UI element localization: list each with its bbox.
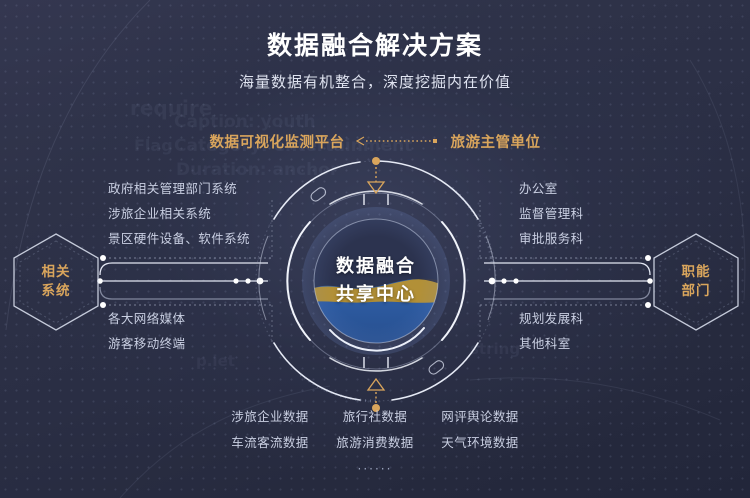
list-item[interactable]: 办公室 <box>519 176 584 201</box>
list-item[interactable]: 天气环境数据 <box>428 430 533 456</box>
infographic-canvas: require Caption: youth Category: enterta… <box>0 0 750 498</box>
bottom-data-row-1: 涉旅企业数据 旅行社数据 网评舆论数据 <box>218 404 533 430</box>
hexagon-right-functional-departments[interactable]: 职能 部门 <box>654 234 738 330</box>
center-label-line2: 共享中心 <box>336 281 416 309</box>
right-top-item-list: 办公室 监督管理科 审批服务科 <box>519 176 584 251</box>
list-item[interactable]: 车流客流数据 <box>218 430 323 456</box>
bottom-data-grid: 涉旅企业数据 旅行社数据 网评舆论数据 车流客流数据 旅游消费数据 天气环境数据… <box>0 404 750 476</box>
hexagon-left-line2: 系统 <box>42 282 71 301</box>
list-item[interactable]: 其他科室 <box>519 331 584 356</box>
hexagon-left-line1: 相关 <box>42 263 71 282</box>
hexagon-right-line1: 职能 <box>682 263 711 282</box>
list-item[interactable]: 旅行社数据 <box>323 404 428 430</box>
top-gold-indicator <box>368 157 384 193</box>
list-item[interactable]: 涉旅企业相关系统 <box>108 201 250 226</box>
list-item[interactable]: 各大网络媒体 <box>108 306 185 331</box>
left-bottom-item-list: 各大网络媒体 游客移动终端 <box>108 306 185 356</box>
list-item[interactable]: 景区硬件设备、软件系统 <box>108 226 250 251</box>
list-item[interactable]: 网评舆论数据 <box>428 404 533 430</box>
list-item[interactable]: 涉旅企业数据 <box>218 404 323 430</box>
bottom-ellipsis: ······ <box>358 462 393 476</box>
list-item[interactable]: 监督管理科 <box>519 201 584 226</box>
bottom-data-row-2: 车流客流数据 旅游消费数据 天气环境数据 <box>218 430 533 456</box>
right-bottom-item-list: 规划发展科 其他科室 <box>519 306 584 356</box>
hexagon-left-related-systems[interactable]: 相关 系统 <box>14 234 98 330</box>
list-item[interactable]: 审批服务科 <box>519 226 584 251</box>
left-top-item-list: 政府相关管理部门系统 涉旅企业相关系统 景区硬件设备、软件系统 <box>108 176 250 251</box>
hexagon-right-line2: 部门 <box>682 282 711 301</box>
list-item[interactable]: 规划发展科 <box>519 306 584 331</box>
list-item[interactable]: 旅游消费数据 <box>323 430 428 456</box>
center-sphere-label: 数据融合 共享中心 <box>296 248 456 314</box>
list-item[interactable]: 游客移动终端 <box>108 331 185 356</box>
list-item[interactable]: 政府相关管理部门系统 <box>108 176 250 201</box>
center-label-line1: 数据融合 <box>336 253 416 281</box>
